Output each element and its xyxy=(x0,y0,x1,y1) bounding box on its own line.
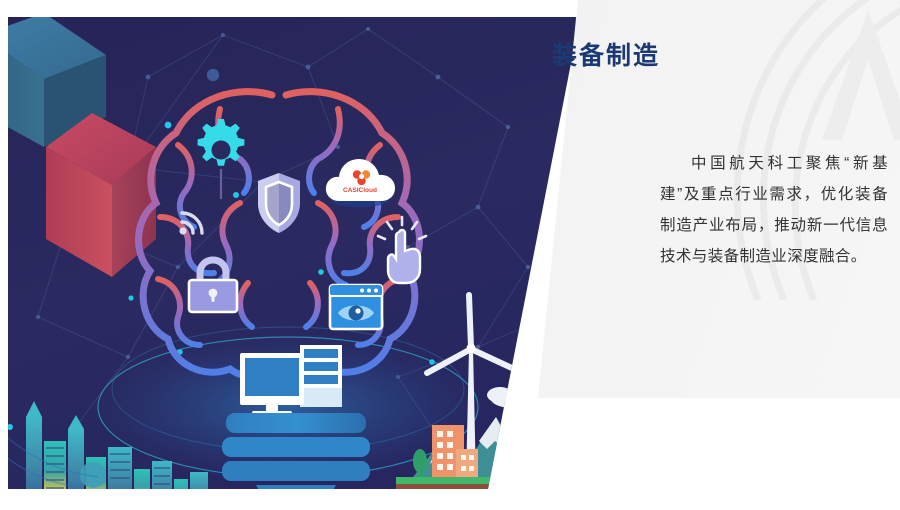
panel-body-text: 中国航天科工聚焦“新基建”及重点行业需求，优化装备制造产业布局，推动新一代信息技… xyxy=(660,148,888,272)
page-title: 装备制造 xyxy=(552,36,660,72)
slide-root: CASICloud xyxy=(0,0,900,510)
casicloud-label: CASICloud xyxy=(343,187,377,194)
browser-eye-icon xyxy=(330,285,382,329)
illustration-panel: CASICloud xyxy=(8,17,588,489)
gear-icon xyxy=(198,119,245,166)
grass-strip xyxy=(396,477,588,484)
platform-stack xyxy=(222,413,370,489)
soil-strip xyxy=(396,484,588,489)
